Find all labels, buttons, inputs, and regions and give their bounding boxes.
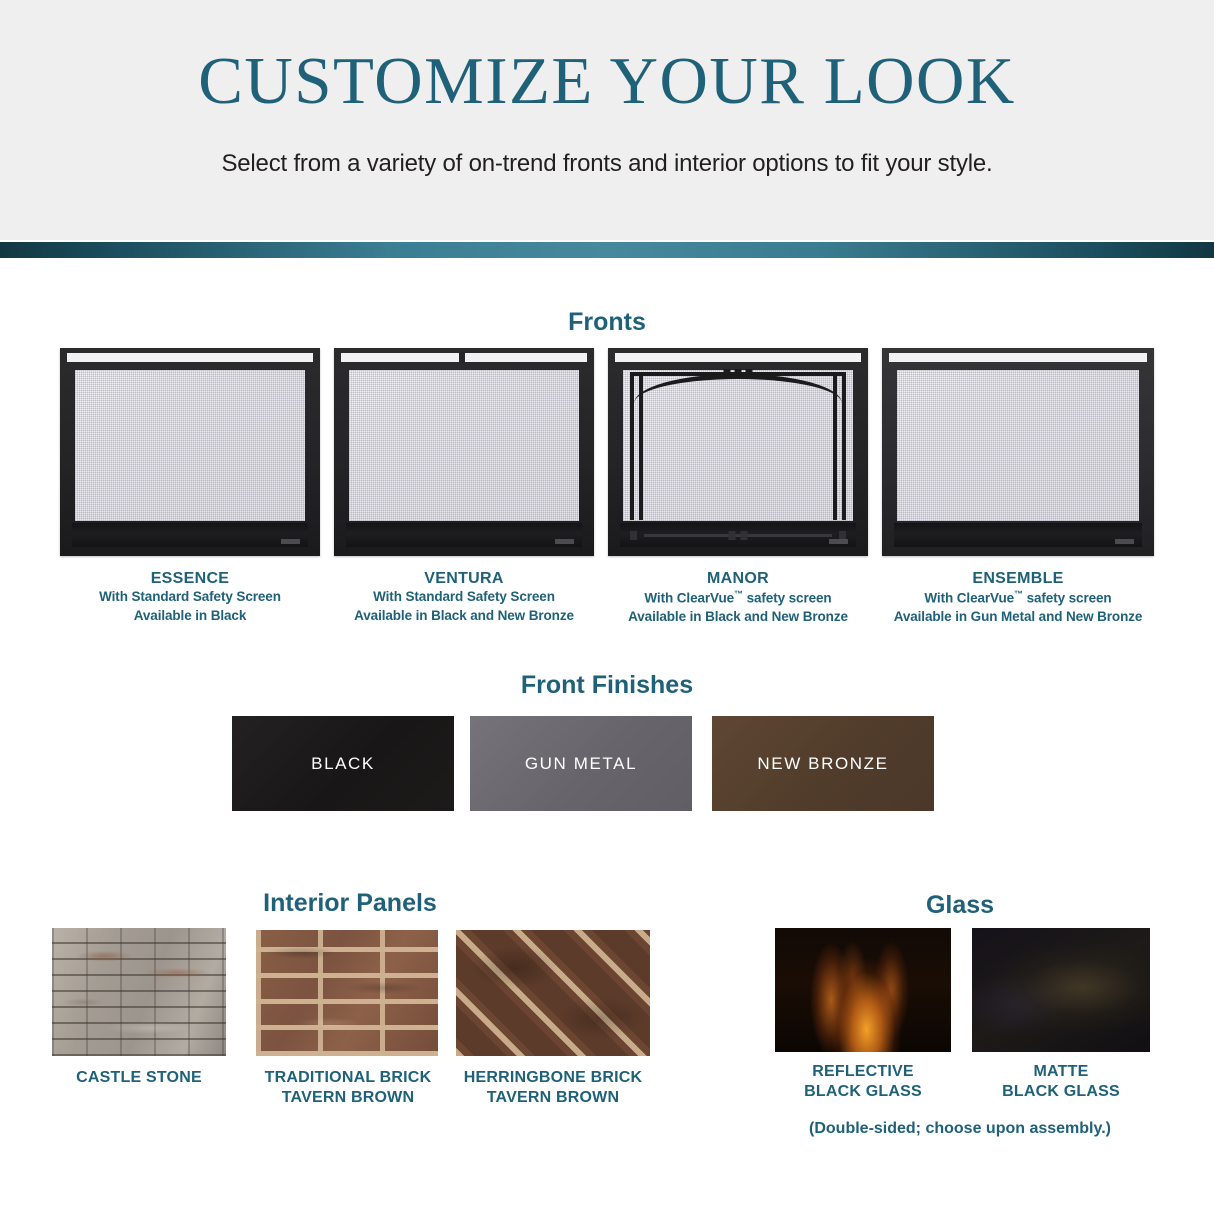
manor-vertical-bar-icon [630,372,634,520]
caption-line-2: BLACK GLASS [768,1082,958,1102]
interior-panel-swatch-herringbone-brick[interactable] [456,930,650,1056]
caption-line-1: REFLECTIVE [768,1062,958,1082]
front-availability-ventura: Available in Black and New Bronze [334,607,594,626]
front-image-manor [608,348,868,556]
finish-label-gun-metal: GUN METAL [525,754,637,774]
interior-panel-swatch-traditional-brick[interactable] [256,930,438,1056]
safety-screen-mesh-icon [349,370,579,521]
front-card-ventura[interactable]: VENTURA With Standard Safety Screen Avai… [334,348,594,625]
frame-top-strip-icon [889,353,1147,362]
frame-top-strip-icon [67,353,313,362]
safety-screen-mesh-icon [75,370,305,521]
section-heading-glass: Glass [740,891,1180,920]
frame-bottom-bar-icon [894,523,1142,547]
caption-line-1: TRADITIONAL BRICK [248,1068,448,1088]
front-name-essence: ESSENCE [60,570,320,588]
front-card-ensemble[interactable]: ENSEMBLE With ClearVue™ safety screen Av… [882,348,1154,627]
caption-line-1: CASTLE STONE [40,1068,238,1088]
page-subtitle: Select from a variety of on-trend fronts… [0,150,1214,178]
finish-swatch-new-bronze[interactable]: NEW BRONZE [712,716,934,811]
glass-caption-reflective-black: REFLECTIVE BLACK GLASS [768,1062,958,1103]
front-card-essence[interactable]: ESSENCE With Standard Safety Screen Avai… [60,348,320,625]
front-screen-line-essence: With Standard Safety Screen [60,588,320,607]
frame-bottom-bar-icon [346,523,582,547]
caption-line-2: BLACK GLASS [966,1082,1156,1102]
finish-label-black: BLACK [311,754,375,774]
front-name-ensemble: ENSEMBLE [882,570,1154,588]
front-image-ensemble [882,348,1154,556]
interior-panel-caption-herringbone-brick: HERRINGBONE BRICK TAVERN BROWN [452,1068,654,1109]
front-screen-line-ventura: With Standard Safety Screen [334,588,594,607]
trademark-icon: ™ [1014,589,1023,599]
front-name-manor: MANOR [608,570,868,588]
front-name-ventura: VENTURA [334,570,594,588]
glass-swatch-matte-black[interactable] [972,928,1150,1052]
glass-caption-matte-black: MATTE BLACK GLASS [966,1062,1156,1103]
front-availability-manor: Available in Black and New Bronze [608,608,868,627]
frame-body-icon [334,348,594,556]
manor-vertical-bar-icon [842,372,846,520]
section-heading-front-finishes: Front Finishes [0,671,1214,700]
section-heading-interior-panels: Interior Panels [48,889,652,918]
finish-swatch-gun-metal[interactable]: GUN METAL [470,716,692,811]
interior-panel-caption-castle-stone: CASTLE STONE [40,1068,238,1088]
clearvue-text: With ClearVue [644,591,734,606]
manor-bottom-studs-icon [729,531,748,540]
frame-top-strip-icon [615,353,861,362]
frame-bottom-bar-icon [72,523,308,547]
front-image-essence [60,348,320,556]
manor-top-studs-icon [724,369,753,378]
front-availability-essence: Available in Black [60,607,320,626]
manor-corner-stud-icon [630,531,637,540]
clearvue-text: With ClearVue [924,591,1014,606]
caption-line-1: HERRINGBONE BRICK [452,1068,654,1088]
brand-badge-icon [555,539,574,544]
caption-line-2: TAVERN BROWN [248,1088,448,1108]
frame-body-icon [882,348,1154,556]
caption-line-1: MATTE [966,1062,1156,1082]
glass-swatch-reflective-black[interactable] [775,928,951,1052]
header-divider-bar [0,242,1214,258]
section-heading-fronts: Fronts [0,308,1214,337]
front-screen-line-ensemble: With ClearVue™ safety screen [882,588,1154,608]
frame-top-strip-split-icon [341,353,587,362]
front-screen-line-manor: With ClearVue™ safety screen [608,588,868,608]
interior-panel-swatch-castle-stone[interactable] [52,928,226,1056]
caption-line-2: TAVERN BROWN [452,1088,654,1108]
front-availability-ensemble: Available in Gun Metal and New Bronze [882,608,1154,627]
brand-badge-icon [829,539,848,544]
frame-body-icon [608,348,868,556]
frame-body-icon [60,348,320,556]
front-card-manor[interactable]: MANOR With ClearVue™ safety screen Avail… [608,348,868,627]
finish-label-new-bronze: NEW BRONZE [757,754,888,774]
brand-badge-icon [281,539,300,544]
page-title: CUSTOMIZE YOUR LOOK [0,46,1214,116]
front-image-ventura [334,348,594,556]
trademark-icon: ™ [734,589,743,599]
finish-swatch-black[interactable]: BLACK [232,716,454,811]
glass-double-sided-note: (Double-sided; choose upon assembly.) [740,1120,1180,1138]
header-banner: CUSTOMIZE YOUR LOOK Select from a variet… [0,0,1214,240]
safety-screen-mesh-icon [897,370,1139,521]
safety-screen-text: safety screen [1023,591,1112,606]
brand-badge-icon [1115,539,1134,544]
interior-panel-caption-traditional-brick: TRADITIONAL BRICK TAVERN BROWN [248,1068,448,1109]
safety-screen-text: safety screen [743,591,832,606]
